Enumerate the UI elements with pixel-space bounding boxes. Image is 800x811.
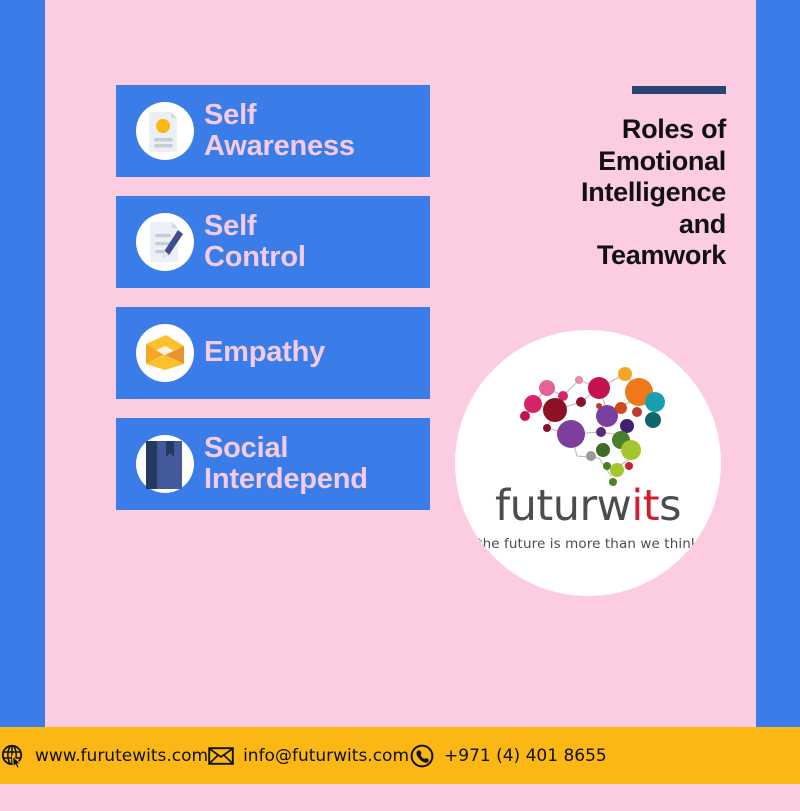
brain-network-icon [503,358,683,488]
title-block: Roles of Emotional Intelligence and Team… [470,86,726,272]
footer-phone-text: +971 (4) 401 8655 [444,746,607,766]
profile-document-icon [134,100,196,162]
envelope-letter-icon [134,322,196,384]
brand-wordmark: futurwits [455,485,721,528]
right-accent-stripe [756,0,800,727]
book-icon [134,433,196,495]
phone-circle-icon [409,743,435,769]
brand-tagline: the future is more than we think [455,536,721,552]
footer-email-text: info@futurwits.com [243,746,409,766]
footer-website[interactable]: www.furutewits.com [0,743,208,769]
footer-email[interactable]: info@futurwits.com [208,746,409,766]
footer-website-text: www.furutewits.com [35,746,208,766]
footer-phone[interactable]: +971 (4) 401 8655 [409,743,607,769]
feature-card-self-control[interactable]: Self Control [116,196,430,288]
feature-card-empathy[interactable]: Empathy [116,307,430,399]
wordmark-accent: it [631,481,659,531]
feature-card-label: Empathy [204,337,325,368]
envelope-icon [208,746,234,766]
poster-canvas: Self Awareness Self Control [0,0,800,811]
wordmark-prefix: futurw [495,481,631,531]
notepad-pen-icon [134,211,196,273]
contact-footer-bar: www.furutewits.com info@futurwits.com +9… [0,727,800,784]
left-accent-stripe [0,0,45,727]
title-accent-bar [632,86,726,94]
feature-card-social-interdepend[interactable]: Social Interdepend [116,418,430,510]
wordmark-suffix: s [659,481,681,531]
feature-card-list: Self Awareness Self Control [116,85,430,529]
feature-card-label: Self Awareness [204,100,355,163]
feature-card-label: Social Interdepend [204,433,368,496]
page-title: Roles of Emotional Intelligence and Team… [470,114,726,272]
globe-cursor-icon [0,743,26,769]
brand-logo-badge: futurwits the future is more than we thi… [455,330,721,596]
feature-card-self-awareness[interactable]: Self Awareness [116,85,430,177]
feature-card-label: Self Control [204,211,306,274]
